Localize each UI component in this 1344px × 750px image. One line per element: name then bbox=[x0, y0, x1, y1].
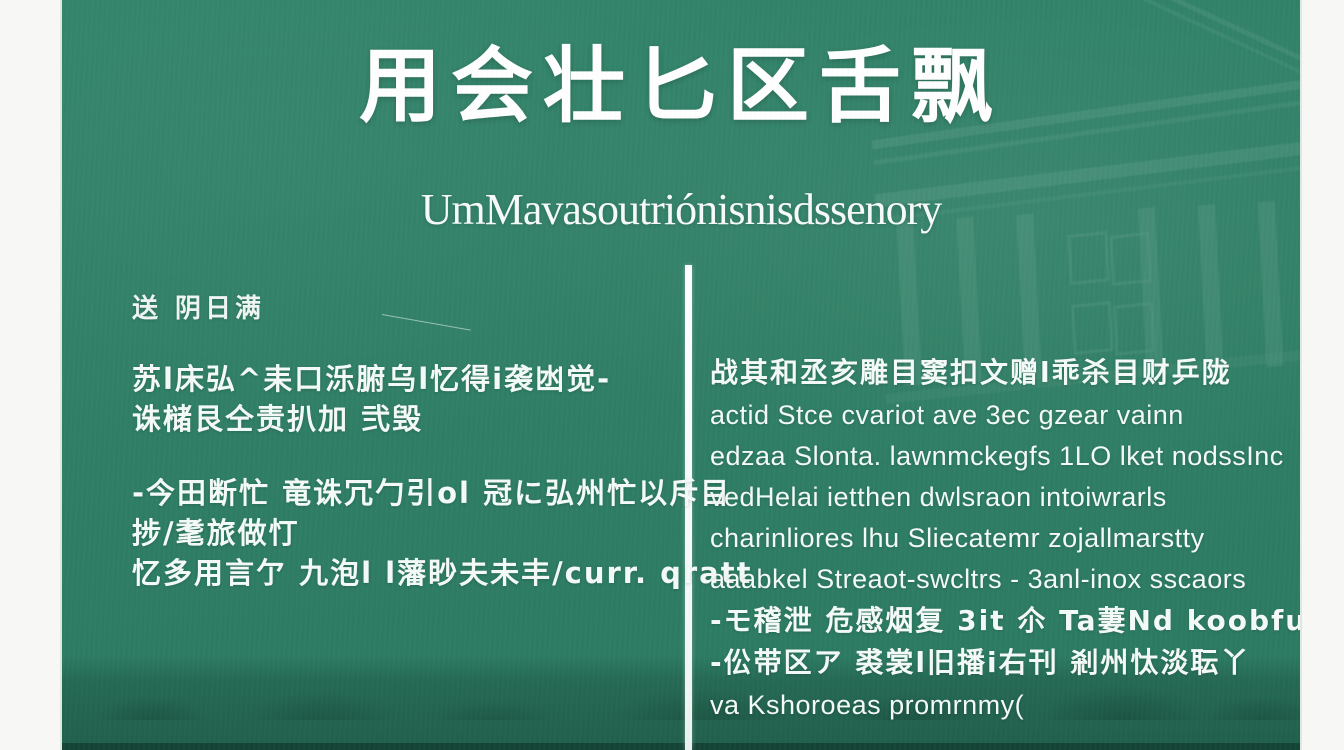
presentation-slide: 用会壮匕区舌飘 UmMavasoutriónisnisdssenory 送 阴日… bbox=[62, 0, 1300, 750]
left-column-tag: 送 阴日满 bbox=[132, 288, 652, 325]
slide-canvas: 用会壮匕区舌飘 UmMavasoutriónisnisdssenory 送 阴日… bbox=[0, 0, 1344, 750]
page-margin-right bbox=[1300, 0, 1344, 750]
page-margin-left bbox=[0, 0, 62, 750]
left-block-2-line-3: 忆多用言亇 九泡l l藩眇夫未丰/curr. qratt bbox=[132, 553, 652, 593]
left-block-2: -今田断忙 竜诛冗勹引ol 冠に弘州忙以斥目 捗/耄旅做忊 忆多用言亇 九泡l … bbox=[132, 473, 652, 593]
right-line-8: -伀带区ア 裘裳l旧播i右刊 剎州忲淡耺丫 bbox=[710, 642, 1230, 685]
right-line-5: charinliores lhu Sliecatemr zojallmarstt… bbox=[710, 518, 1230, 559]
right-line-3: edzaa Slonta. lawnmckegfs 1LO lket nodss… bbox=[710, 436, 1230, 477]
slide-subtitle: UmMavasoutriónisnisdssenory bbox=[62, 184, 1300, 235]
right-line-6: aaabkel Streaot-swcltrs - 3anl-inox ssca… bbox=[710, 559, 1230, 600]
right-line-2: actid Stce cvariot ave 3ec gzear vainn bbox=[710, 395, 1230, 436]
right-line-9: va Kshoroeas promrnmy( bbox=[710, 685, 1230, 726]
right-column: 战其和丞亥雕目窦扣文赠l乖杀目财乒陇 actid Stce cvariot av… bbox=[710, 352, 1230, 726]
left-block-1-line-2: 诛槠艮仝责扒加 弐毁 bbox=[132, 399, 652, 439]
slide-bottom-edge bbox=[62, 743, 1300, 750]
slide-title: 用会壮匕区舌飘 bbox=[62, 44, 1300, 130]
left-block-1-line-1: 苏l床弘^耒口泺腑乌l忆得i袭凼觉- bbox=[132, 359, 652, 399]
left-block-1: 苏l床弘^耒口泺腑乌l忆得i袭凼觉- 诛槠艮仝责扒加 弐毁 bbox=[132, 359, 652, 439]
right-line-4: vedHelai ietthen dwlsraon intoiwrarls bbox=[710, 477, 1230, 518]
right-line-7: -モ稽泄 危感烟复 3it 尒 Ta萋Nd koobfurain、 bbox=[710, 600, 1230, 643]
left-block-2-line-2: 捗/耄旅做忊 bbox=[132, 513, 652, 553]
left-block-2-line-1: -今田断忙 竜诛冗勹引ol 冠に弘州忙以斥目 bbox=[132, 473, 652, 513]
right-line-1: 战其和丞亥雕目窦扣文赠l乖杀目财乒陇 bbox=[710, 352, 1230, 395]
left-column: 送 阴日满 苏l床弘^耒口泺腑乌l忆得i袭凼觉- 诛槠艮仝责扒加 弐毁 -今田断… bbox=[132, 288, 652, 593]
